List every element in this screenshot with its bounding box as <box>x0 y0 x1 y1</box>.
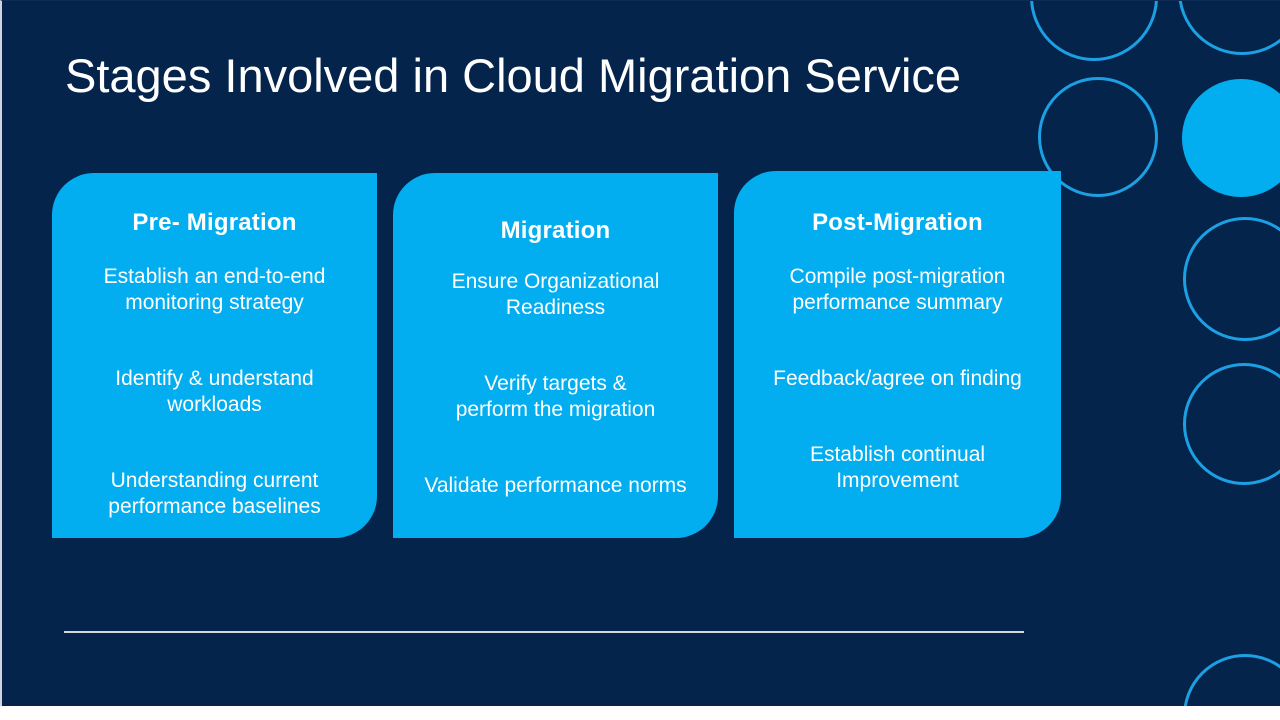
page-bottom-strip <box>0 706 1280 720</box>
footer-divider <box>64 631 1024 633</box>
list-item: Establish continual Improvement <box>748 442 1047 494</box>
stage-card-item-list: Compile post-migration performance summa… <box>748 264 1047 494</box>
slide-canvas: Stages Involved in Cloud Migration Servi… <box>0 0 1280 706</box>
stage-card-pre-migration[interactable]: Pre- Migration Establish an end-to-end m… <box>52 173 377 538</box>
list-item: Validate performance norms <box>407 473 704 499</box>
stage-card-item-list: Establish an end-to-end monitoring strat… <box>66 264 363 520</box>
list-item: Ensure Organizational Readiness <box>407 269 704 321</box>
stage-card-item-list: Ensure Organizational Readiness Verify t… <box>407 269 704 499</box>
list-item: Verify targets & perform the migration <box>407 371 704 423</box>
stage-card-post-migration[interactable]: Post-Migration Compile post-migration pe… <box>734 171 1061 538</box>
stage-card-heading: Pre- Migration <box>66 209 363 237</box>
stage-card-heading: Post-Migration <box>748 209 1047 237</box>
stage-card-heading: Migration <box>407 217 704 245</box>
list-item: Understanding current performance baseli… <box>66 468 363 520</box>
stage-card-migration[interactable]: Migration Ensure Organizational Readines… <box>393 173 718 538</box>
list-item: Establish an end-to-end monitoring strat… <box>66 264 363 316</box>
list-item: Feedback/agree on finding <box>748 366 1047 392</box>
list-item: Compile post-migration performance summa… <box>748 264 1047 316</box>
stage-card-group: Pre- Migration Establish an end-to-end m… <box>2 1 1280 706</box>
list-item: Identify & understand workloads <box>66 366 363 418</box>
